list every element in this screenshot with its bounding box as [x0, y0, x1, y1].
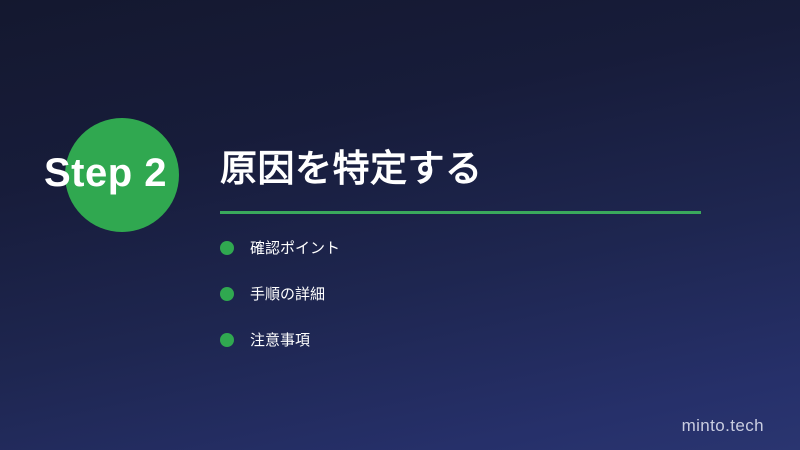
step-badge-label: Step 2: [44, 153, 167, 193]
list-item-label: 手順の詳細: [250, 287, 325, 302]
bullet-dot-icon: [220, 287, 234, 301]
list-item: 確認ポイント: [220, 240, 340, 256]
list-item-label: 注意事項: [250, 333, 310, 348]
list-item: 注意事項: [220, 332, 340, 348]
footer-brand: minto.tech: [682, 417, 764, 434]
bullet-dot-icon: [220, 333, 234, 347]
title-block: 原因を特定する: [220, 148, 760, 189]
list-item-label: 確認ポイント: [250, 241, 340, 256]
bullet-dot-icon: [220, 241, 234, 255]
page-title: 原因を特定する: [220, 148, 760, 189]
presentation-slide: Step 2 原因を特定する 確認ポイント 手順の詳細 注意事項 minto.t…: [0, 0, 800, 450]
title-divider: [220, 211, 701, 214]
list-item: 手順の詳細: [220, 286, 340, 302]
bullet-list: 確認ポイント 手順の詳細 注意事項: [220, 240, 340, 348]
